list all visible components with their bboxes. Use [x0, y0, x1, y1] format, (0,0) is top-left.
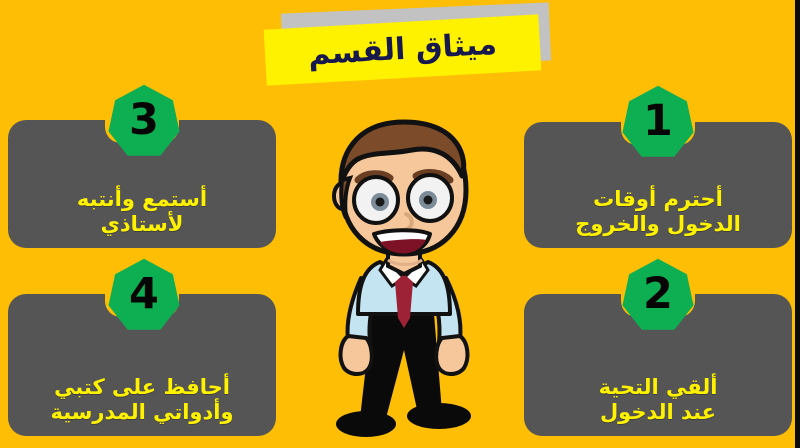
rule-badge-1: 1	[621, 85, 695, 159]
rule-badge-1-number: 1	[621, 85, 695, 159]
rule-card-2-line1: ألقي التحية	[532, 375, 784, 401]
rule-card-1-line1: أحترم أوقات	[532, 187, 784, 213]
cartoon-teacher-illustration	[300, 118, 510, 438]
rule-card-1-line2: الدخول والخروج	[532, 212, 784, 238]
rule-badge-4-number: 4	[107, 258, 181, 332]
rule-badge-2: 2	[621, 258, 695, 332]
rule-card-3-line1: أستمع وأنتبه	[16, 187, 268, 213]
rule-card-4-text: أحافظ على كتبي وأدواتي المدرسية	[16, 375, 268, 426]
rule-badge-2-number: 2	[621, 258, 695, 332]
title-banner: ميثاق القسم	[255, 2, 555, 88]
poster-canvas: ميثاق القسم أحترم أوقات الدخول والخروج 1…	[0, 0, 800, 448]
rule-badge-3: 3	[107, 84, 181, 158]
rule-card-2-text: ألقي التحية عند الدخول	[532, 375, 784, 426]
rule-card-4-line2: وأدواتي المدرسية	[16, 400, 268, 426]
rule-card-2-line2: عند الدخول	[532, 400, 784, 426]
right-edge-strip	[795, 0, 800, 448]
rule-badge-4: 4	[107, 258, 181, 332]
rule-card-3-line2: لأستاذي	[16, 212, 268, 238]
rule-card-3-text: أستمع وأنتبه لأستاذي	[16, 187, 268, 238]
rule-card-4-line1: أحافظ على كتبي	[16, 375, 268, 401]
rule-badge-3-number: 3	[107, 84, 181, 158]
rule-card-1-text: أحترم أوقات الدخول والخروج	[532, 187, 784, 238]
